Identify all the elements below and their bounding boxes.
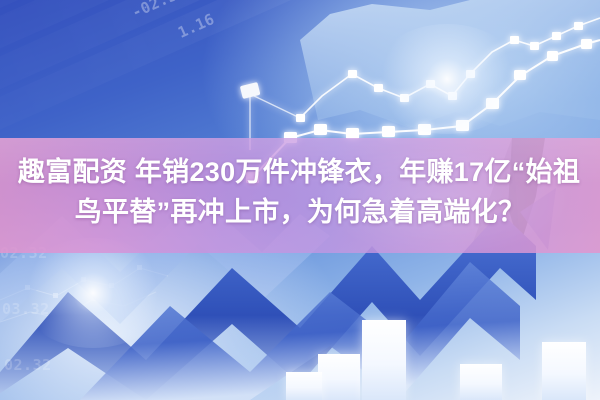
faint-ticker-stripes: 02.3203.3202.32 bbox=[0, 238, 310, 388]
ticker-value: 03.32 bbox=[2, 300, 50, 318]
article-cover-banner: +45.02-11.25-02.36-50.02-25.32+45.02-11.… bbox=[0, 0, 600, 400]
ticker-value: 02.32 bbox=[4, 356, 52, 374]
ticker-value: 1.16 bbox=[175, 10, 217, 42]
faint-ticker-row: 03.32 bbox=[0, 294, 310, 324]
bar-chart-columns bbox=[300, 240, 600, 400]
headline-line-2: 鸟平替”再冲上市，为何急着高端化？ bbox=[0, 192, 600, 232]
headline-line-1: 趣富配资 年销230万件冲锋衣，年赚17亿“始祖 bbox=[0, 152, 600, 192]
bar-column bbox=[318, 354, 360, 400]
faint-ticker-row: 02.32 bbox=[0, 350, 310, 380]
bar-column bbox=[362, 320, 406, 400]
bar-column bbox=[542, 342, 586, 400]
page-title: 趣富配资 年销230万件冲锋衣，年赚17亿“始祖 鸟平替”再冲上市，为何急着高端… bbox=[0, 152, 600, 232]
ticker-value: 4.25 bbox=[263, 0, 305, 3]
bar-column bbox=[460, 364, 502, 400]
